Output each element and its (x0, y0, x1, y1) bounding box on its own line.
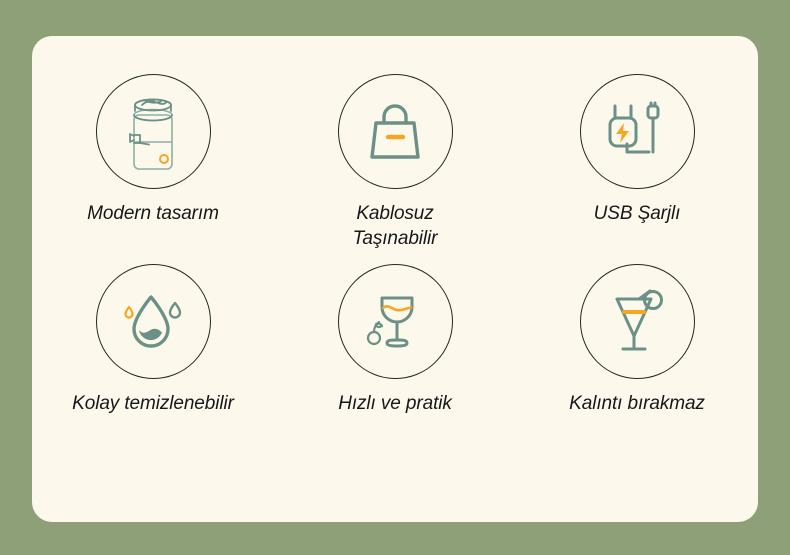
icon-circle (338, 264, 453, 379)
feature-grid: Modern tasarım Kablosuz Taşınabilir (32, 74, 758, 454)
feature-label: Kolay temizlenebilir (72, 391, 234, 416)
feature-item-no-residue: Kalıntı bırakmaz (516, 264, 758, 454)
handbag-icon (364, 99, 426, 165)
cocktail-glass-icon (605, 287, 669, 357)
wine-glass-icon (362, 288, 428, 356)
feature-item-easy-clean: Kolay temizlenebilir (32, 264, 274, 454)
feature-label: Kablosuz Taşınabilir (353, 201, 438, 251)
icon-circle (580, 74, 695, 189)
feature-item-wireless-portable: Kablosuz Taşınabilir (274, 74, 516, 264)
water-droplet-icon (120, 289, 186, 355)
feature-card: Modern tasarım Kablosuz Taşınabilir (32, 36, 758, 522)
feature-label: Modern tasarım (87, 201, 219, 226)
icon-circle (580, 264, 695, 379)
icon-circle (96, 74, 211, 189)
feature-label: USB Şarjlı (594, 201, 681, 226)
icon-circle (96, 264, 211, 379)
portable-blender-icon (120, 89, 186, 175)
feature-item-modern-design: Modern tasarım (32, 74, 274, 264)
feature-label: Hızlı ve pratik (338, 391, 452, 416)
feature-item-fast-practical: Hızlı ve pratik (274, 264, 516, 454)
usb-charger-plug-icon (603, 98, 671, 166)
feature-label: Kalıntı bırakmaz (569, 391, 705, 416)
feature-panel: Modern tasarım Kablosuz Taşınabilir (0, 0, 790, 555)
icon-circle (338, 74, 453, 189)
feature-item-usb-charging: USB Şarjlı (516, 74, 758, 264)
